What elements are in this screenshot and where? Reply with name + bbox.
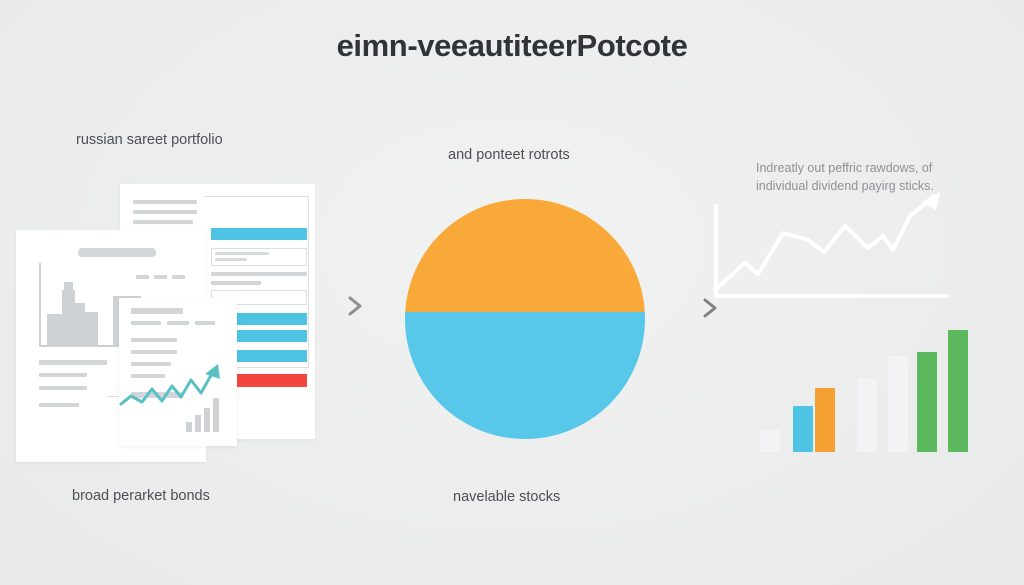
pie-slice-orange [405,199,645,312]
bar-chart [760,330,975,452]
line-chart [708,184,953,316]
skyline-bar [84,312,98,345]
infographic-stage: eimn-veeautiteerPotcote russian sareet p… [0,0,1024,585]
mini-bar [195,415,201,432]
pie-chart [405,199,645,439]
panel-middle-caption-bottom: navelable stocks [453,488,560,508]
panel-left: russian sareet portfolio [0,0,348,585]
pie-slice-blue [405,312,645,439]
bar-item [793,406,813,452]
skyline-tower [64,282,73,294]
panel-right-caption-line1: Indreatly out peffric rawdows, of [756,161,932,175]
trend-arrow-icon [117,356,239,412]
bar-item [888,356,908,452]
doc-bar-blue [211,228,307,240]
mini-bar [186,422,192,432]
bar-item [948,330,968,452]
bar-item [815,388,835,452]
document-trend [119,298,237,446]
doc-bar-red [232,374,307,387]
panel-middle: and ponteet rotrots navelable stocks [348,0,688,585]
panel-middle-caption-top: and ponteet rotrots [448,146,570,166]
doc-bar-blue [232,350,307,362]
panel-left-caption-top: russian sareet portfolio [76,131,223,151]
panel-left-caption-bottom: broad perarket bonds [72,487,210,507]
bar-item [760,430,780,452]
mini-bar [213,398,219,432]
bar-item [917,352,937,452]
bar-item [857,378,877,452]
skyline-bar [47,314,63,345]
panel-right: Indreatly out peffric rawdows, of indivi… [688,0,1024,585]
mini-bar [204,408,210,432]
